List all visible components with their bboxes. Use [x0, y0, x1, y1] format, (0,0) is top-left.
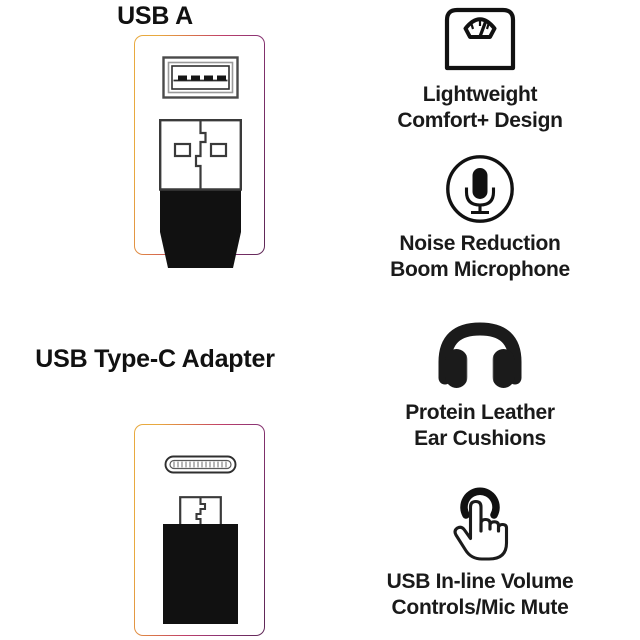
usb-a-card-title: USB A — [10, 2, 300, 32]
weight-scale-icon — [440, 2, 520, 76]
product-feature-infographic: USB A — [0, 0, 640, 640]
feature-microphone: Noise Reduction Boom Microphone — [330, 153, 630, 282]
feature-volume-controls-label: USB In-line Volume Controls/Mic Mute — [330, 569, 630, 620]
usb-c-connector-card — [134, 424, 265, 636]
usb-a-connector-icon — [135, 36, 266, 296]
usb-c-card-title: USB Type-C Adapter — [10, 345, 300, 375]
feature-ear-cushions: Protein Leather Ear Cushions — [330, 320, 630, 451]
feature-volume-controls: USB In-line Volume Controls/Mic Mute — [330, 473, 630, 620]
feature-lightweight: Lightweight Comfort+ Design — [330, 2, 630, 133]
usb-a-connector-card — [134, 35, 265, 255]
microphone-icon — [444, 153, 516, 225]
feature-microphone-label: Noise Reduction Boom Microphone — [330, 231, 630, 282]
feature-ear-cushions-label: Protein Leather Ear Cushions — [330, 400, 630, 451]
usb-c-adapter-icon — [135, 425, 266, 636]
touch-hand-icon — [444, 473, 516, 563]
feature-lightweight-label: Lightweight Comfort+ Design — [330, 82, 630, 133]
headphones-icon — [436, 320, 524, 394]
